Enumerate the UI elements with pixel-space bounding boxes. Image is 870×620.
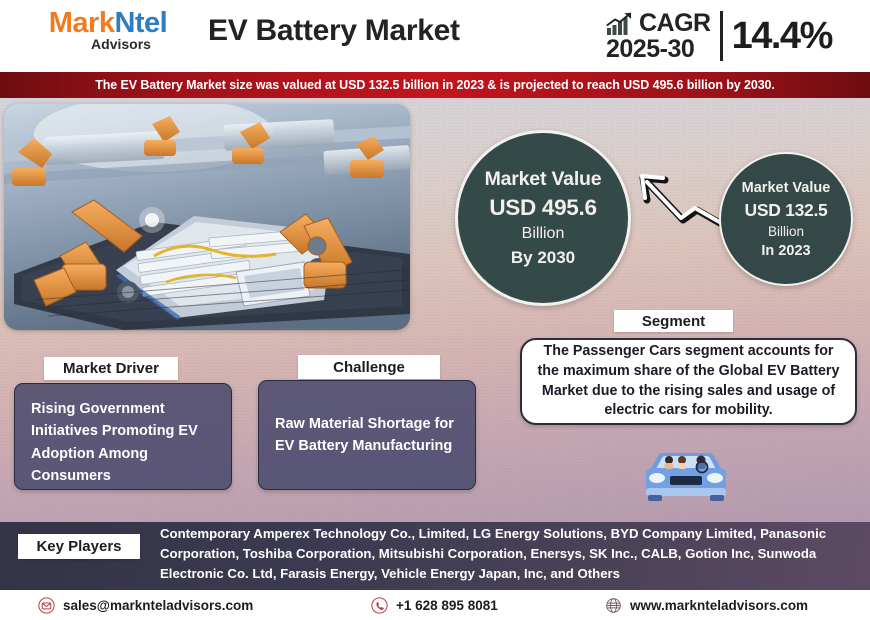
cagr-years: 2025-30	[606, 37, 694, 62]
logo-text-ntel: Ntel	[114, 7, 167, 39]
cagr-label: CAGR	[639, 11, 711, 36]
footer: sales@marknteladvisors.com +1 628 895 80…	[0, 590, 870, 620]
market-value-2030-circle: Market Value USD 495.6 Billion By 2030	[455, 130, 631, 306]
hero-photo-illustration	[4, 104, 410, 330]
header: MarkNtel Advisors EV Battery Market CAGR	[0, 0, 870, 72]
cagr-value: 14.4%	[732, 15, 832, 58]
footer-phone[interactable]: +1 628 895 8081	[371, 597, 498, 614]
market-value-2023-circle: Market Value USD 132.5 Billion In 2023	[719, 152, 853, 286]
logo-wordmark: MarkNtel	[28, 8, 188, 38]
phone-icon	[371, 597, 388, 614]
challenge-panel: Raw Material Shortage for EV Battery Man…	[258, 380, 476, 490]
small-circle-year: In 2023	[761, 243, 810, 259]
headline-banner: The EV Battery Market size was valued at…	[0, 72, 870, 98]
segment-description-box: The Passenger Cars segment accounts for …	[520, 338, 857, 425]
cagr-divider	[720, 11, 723, 61]
footer-email[interactable]: sales@marknteladvisors.com	[38, 597, 253, 614]
key-players-label: Key Players	[18, 534, 140, 559]
infographic-page: MarkNtel Advisors EV Battery Market CAGR	[0, 0, 870, 620]
cagr-block: CAGR 2025-30 14.4%	[606, 6, 832, 66]
growth-chart-icon	[606, 12, 636, 36]
big-circle-value: USD 495.6	[489, 195, 596, 221]
globe-icon	[605, 597, 622, 614]
segment-label: Segment	[614, 310, 733, 332]
big-circle-year: By 2030	[511, 248, 575, 268]
big-circle-unit: Billion	[522, 225, 565, 243]
footer-website-text: www.marknteladvisors.com	[630, 598, 808, 613]
passenger-car-icon	[636, 448, 736, 506]
market-driver-label: Market Driver	[44, 357, 178, 380]
email-icon	[38, 597, 55, 614]
company-logo: MarkNtel Advisors	[28, 8, 188, 52]
footer-email-text: sales@marknteladvisors.com	[63, 598, 253, 613]
page-title: EV Battery Market	[208, 14, 548, 48]
footer-website[interactable]: www.marknteladvisors.com	[605, 597, 808, 614]
small-circle-line1: Market Value	[742, 180, 831, 196]
key-players-list: Contemporary Amperex Technology Co., Lim…	[160, 524, 860, 584]
small-circle-unit: Billion	[768, 224, 804, 239]
market-driver-panel: Rising Government Initiatives Promoting …	[14, 383, 232, 490]
small-circle-value: USD 132.5	[745, 200, 828, 221]
big-circle-line1: Market Value	[485, 168, 602, 191]
growth-arrow-icon	[635, 172, 731, 230]
challenge-label: Challenge	[298, 355, 440, 379]
logo-text-mark: Mark	[49, 7, 115, 39]
headline-banner-text: The EV Battery Market size was valued at…	[95, 78, 775, 92]
footer-phone-text: +1 628 895 8081	[396, 598, 498, 613]
hero-photo-ev-battery-assembly	[4, 104, 410, 330]
